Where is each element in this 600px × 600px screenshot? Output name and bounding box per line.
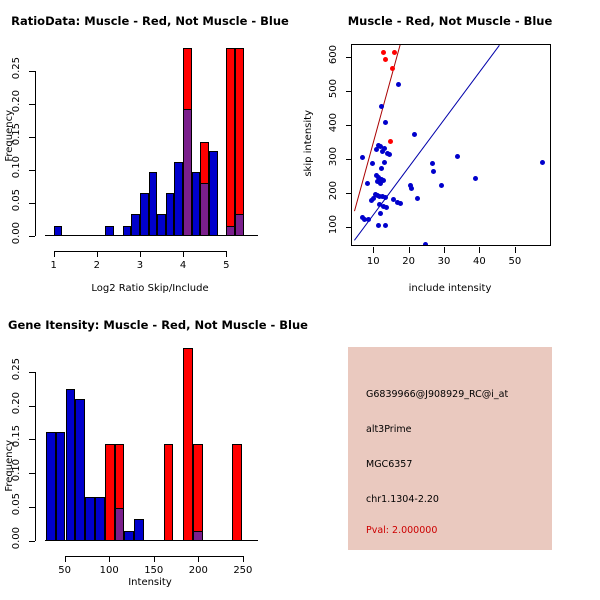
scatter-point-not-muscle bbox=[387, 152, 392, 157]
scatter-title: Muscle - Red, Not Muscle - Blue bbox=[300, 14, 600, 28]
ratio-histogram-panel: RatioData: Muscle - Red, Not Muscle - Bl… bbox=[0, 0, 300, 300]
scatter-point-not-muscle bbox=[412, 132, 417, 137]
scatter-point-not-muscle bbox=[379, 104, 384, 109]
scatter-point-muscle bbox=[388, 139, 393, 144]
x-axis-tick bbox=[183, 251, 184, 257]
histogram-bar-not-muscle bbox=[209, 151, 218, 236]
y-axis-tick-label: 0.15 bbox=[11, 123, 22, 145]
scatter-point-not-muscle bbox=[370, 161, 375, 166]
y-axis-tick bbox=[346, 125, 352, 126]
y-axis-tick-label: 0.05 bbox=[11, 493, 22, 515]
histogram-bar-muscle bbox=[193, 444, 203, 541]
scatter-point-not-muscle bbox=[396, 82, 401, 87]
scatter-point-muscle bbox=[383, 57, 388, 62]
scatter-point-muscle bbox=[390, 66, 395, 71]
x-axis-tick-label: 200 bbox=[184, 565, 212, 576]
scatter-point-not-muscle bbox=[409, 186, 414, 191]
x-axis-tick bbox=[109, 556, 110, 562]
histogram-bar-muscle bbox=[105, 444, 115, 541]
x-axis-tick-label: 20 bbox=[395, 256, 423, 267]
info-pval: Pval: 2.000000 bbox=[366, 525, 437, 536]
x-axis-tick bbox=[444, 247, 445, 253]
y-axis-tick-label: 0.10 bbox=[11, 156, 22, 178]
y-axis-tick bbox=[29, 71, 35, 72]
y-axis-tick-label: 0.25 bbox=[11, 57, 22, 79]
y-axis-tick bbox=[29, 507, 35, 508]
y-axis-tick bbox=[346, 91, 352, 92]
x-axis-tick bbox=[54, 251, 55, 257]
histogram-bar-not-muscle bbox=[192, 172, 201, 236]
y-axis-tick-label: 100 bbox=[328, 215, 339, 234]
y-axis-tick-label: 0.15 bbox=[11, 425, 22, 447]
histogram-bar-not-muscle bbox=[105, 226, 114, 236]
histogram-bar-overlap bbox=[235, 214, 244, 236]
x-axis-tick-label: 10 bbox=[359, 256, 387, 267]
x-axis-tick-label: 50 bbox=[501, 256, 529, 267]
x-axis-tick-label: 150 bbox=[140, 565, 168, 576]
histogram-bar-not-muscle bbox=[54, 226, 63, 236]
y-axis-tick-label: 0.10 bbox=[11, 459, 22, 481]
y-axis-tick bbox=[29, 236, 35, 237]
x-axis-tick bbox=[226, 251, 227, 257]
histogram-bar-not-muscle bbox=[46, 432, 56, 541]
scatter-point-not-muscle bbox=[383, 223, 388, 228]
gene-histogram-title: Gene Itensity: Muscle - Red, Not Muscle … bbox=[0, 318, 306, 332]
histogram-bar-not-muscle bbox=[157, 214, 166, 236]
x-axis-tick bbox=[198, 556, 199, 562]
y-axis-tick bbox=[29, 439, 35, 440]
histogram-bar-not-muscle bbox=[174, 162, 183, 236]
x-axis-tick-label: 3 bbox=[126, 260, 154, 271]
x-axis-tick bbox=[515, 247, 516, 253]
histogram-bar-not-muscle bbox=[166, 193, 175, 236]
histogram-bar-overlap bbox=[193, 531, 203, 541]
y-axis-tick bbox=[346, 57, 352, 58]
info-probe-id: G6839966@J908929_RC@i_at bbox=[366, 389, 508, 400]
y-axis-spine bbox=[35, 372, 36, 541]
histogram-bar-muscle bbox=[226, 48, 235, 236]
scatter-point-not-muscle bbox=[379, 166, 384, 171]
histogram-bar-not-muscle bbox=[95, 497, 105, 541]
histogram-bar-not-muscle bbox=[123, 226, 132, 236]
y-axis-tick-label: 0.25 bbox=[11, 358, 22, 380]
histogram-bar-not-muscle bbox=[140, 193, 149, 236]
scatter-point-not-muscle bbox=[431, 169, 436, 174]
scatter-point-not-muscle bbox=[378, 181, 383, 186]
scatter-point-not-muscle bbox=[473, 176, 478, 181]
x-axis-tick bbox=[154, 556, 155, 562]
scatter-point-not-muscle bbox=[384, 205, 389, 210]
histogram-bar-overlap bbox=[183, 109, 192, 236]
ratio-histogram-plot-area: 0.000.050.100.150.200.2512345 bbox=[45, 48, 250, 236]
scatter-ylabel: skip intensity bbox=[303, 110, 314, 177]
scatter-point-not-muscle bbox=[369, 198, 374, 203]
scatter-canvas bbox=[352, 45, 550, 245]
ratio-histogram-xlabel: Log2 Ratio Skip/Include bbox=[25, 283, 275, 294]
y-axis-tick-label: 300 bbox=[328, 147, 339, 166]
scatter-plot-area: 1002003004005006001020304050 bbox=[351, 44, 551, 246]
x-axis-tick bbox=[97, 251, 98, 257]
histogram-bar-not-muscle bbox=[85, 497, 95, 541]
y-axis-tick bbox=[29, 372, 35, 373]
histogram-bar-overlap bbox=[200, 183, 209, 236]
info-event-type: alt3Prime bbox=[366, 424, 411, 435]
x-axis-tick-label: 1 bbox=[40, 260, 68, 271]
scatter-point-not-muscle bbox=[415, 196, 420, 201]
info-gene-symbol: MGC6357 bbox=[366, 459, 412, 470]
scatter-xlabel: include intensity bbox=[325, 283, 575, 294]
scatter-point-not-muscle bbox=[365, 181, 370, 186]
scatter-point-not-muscle bbox=[540, 160, 545, 165]
y-axis-tick bbox=[29, 137, 35, 138]
x-axis-tick bbox=[65, 556, 66, 562]
scatter-point-not-muscle bbox=[430, 161, 435, 166]
histogram-bar-not-muscle bbox=[149, 172, 158, 236]
y-axis-tick bbox=[346, 227, 352, 228]
y-axis-tick-label: 0.00 bbox=[11, 222, 22, 244]
x-axis-tick-label: 40 bbox=[465, 256, 493, 267]
y-axis-tick bbox=[29, 406, 35, 407]
scatter-point-not-muscle bbox=[374, 147, 379, 152]
y-axis-tick-label: 0.20 bbox=[11, 392, 22, 414]
gene-histogram-xlabel: Intensity bbox=[25, 577, 275, 588]
y-axis-tick-label: 600 bbox=[328, 45, 339, 64]
histogram-bar-not-muscle bbox=[131, 214, 140, 236]
histogram-bar-not-muscle bbox=[75, 399, 85, 541]
scatter-point-not-muscle bbox=[360, 155, 365, 160]
histogram-bar-not-muscle bbox=[124, 531, 134, 541]
scatter-point-not-muscle bbox=[376, 223, 381, 228]
x-axis-tick bbox=[409, 247, 410, 253]
ratio-histogram-title: RatioData: Muscle - Red, Not Muscle - Bl… bbox=[0, 14, 300, 28]
scatter-point-muscle bbox=[381, 50, 386, 55]
x-axis-tick bbox=[373, 247, 374, 253]
gene-info-panel: G6839966@J908929_RC@i_at alt3Prime MGC63… bbox=[348, 347, 552, 550]
scatter-point-not-muscle bbox=[383, 195, 388, 200]
y-axis-tick-label: 0.00 bbox=[11, 527, 22, 549]
y-axis-tick bbox=[29, 203, 35, 204]
y-axis-tick bbox=[29, 170, 35, 171]
y-axis-tick bbox=[29, 473, 35, 474]
x-axis-tick-label: 100 bbox=[95, 565, 123, 576]
x-axis-tick-label: 30 bbox=[430, 256, 458, 267]
histogram-bar-not-muscle bbox=[56, 432, 66, 541]
scatter-point-not-muscle bbox=[423, 242, 428, 245]
scatter-point-not-muscle bbox=[366, 217, 371, 222]
histogram-bar-not-muscle bbox=[134, 519, 144, 541]
histogram-bar-overlap bbox=[115, 508, 125, 541]
scatter-point-not-muscle bbox=[378, 211, 383, 216]
x-axis-tick bbox=[479, 247, 480, 253]
gene-intensity-histogram-panel: Gene Itensity: Muscle - Red, Not Muscle … bbox=[0, 300, 300, 600]
scatter-point-muscle bbox=[392, 50, 397, 55]
y-axis-tick bbox=[29, 541, 35, 542]
y-axis-tick bbox=[29, 104, 35, 105]
scatter-point-not-muscle bbox=[383, 120, 388, 125]
x-axis-tick bbox=[243, 556, 244, 562]
x-axis-tick-label: 50 bbox=[51, 565, 79, 576]
histogram-bar-muscle bbox=[235, 48, 244, 236]
y-axis-tick bbox=[346, 193, 352, 194]
intensity-scatter-panel: Muscle - Red, Not Muscle - Blue skip int… bbox=[300, 0, 600, 300]
scatter-point-not-muscle bbox=[382, 160, 387, 165]
histogram-bar-muscle bbox=[183, 348, 193, 541]
histogram-bar-overlap bbox=[226, 226, 235, 236]
y-axis-tick-label: 0.20 bbox=[11, 90, 22, 112]
scatter-point-not-muscle bbox=[380, 149, 385, 154]
histogram-bar-not-muscle bbox=[66, 389, 76, 541]
x-axis-tick-label: 5 bbox=[212, 260, 240, 271]
scatter-point-not-muscle bbox=[455, 154, 460, 159]
gene-histogram-plot-area: 0.000.050.100.150.200.2550100150200250 bbox=[45, 348, 250, 541]
y-axis-tick-label: 0.05 bbox=[11, 189, 22, 211]
histogram-bar-muscle bbox=[232, 444, 242, 541]
x-axis-tick-label: 2 bbox=[83, 260, 111, 271]
x-axis-tick-label: 4 bbox=[169, 260, 197, 271]
y-axis-tick-label: 200 bbox=[328, 181, 339, 200]
y-axis-spine bbox=[35, 71, 36, 236]
y-axis-tick-label: 500 bbox=[328, 79, 339, 98]
x-axis-tick bbox=[140, 251, 141, 257]
y-axis-tick-label: 400 bbox=[328, 113, 339, 132]
scatter-point-not-muscle bbox=[439, 183, 444, 188]
scatter-point-not-muscle bbox=[398, 201, 403, 206]
info-locus: chr1.1304-2.20 bbox=[366, 494, 439, 505]
histogram-bar-muscle bbox=[164, 444, 174, 541]
x-axis-tick-label: 250 bbox=[229, 565, 257, 576]
y-axis-tick bbox=[346, 159, 352, 160]
